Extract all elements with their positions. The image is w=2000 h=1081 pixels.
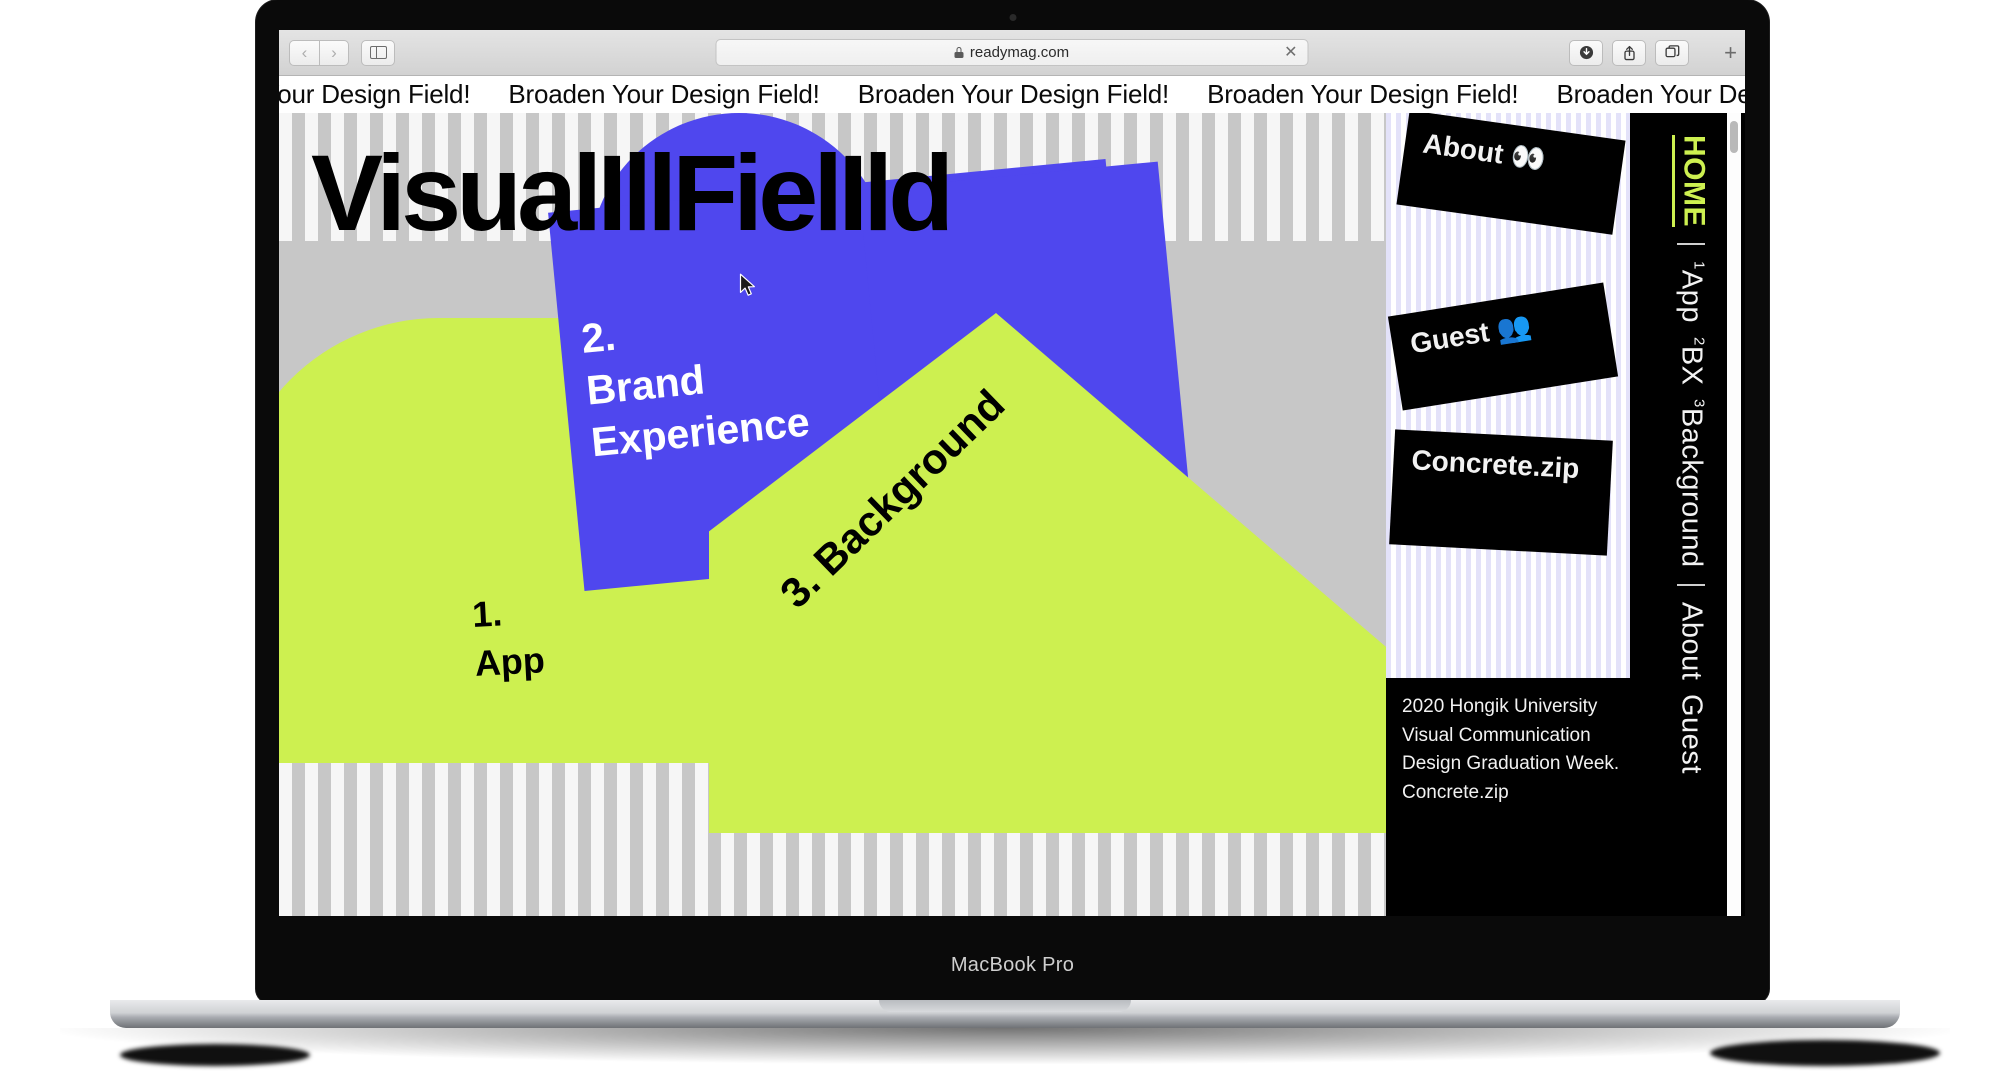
nav-item-bx[interactable]: 2BX (1675, 337, 1708, 386)
address-bar[interactable]: readymag.com ✕ (716, 39, 1309, 66)
section-label-app[interactable]: 1. App (471, 587, 546, 688)
base-notch (879, 1000, 1131, 1012)
marquee-text: Broaden Your Design Field! (1556, 79, 1745, 110)
mouse-cursor (739, 273, 757, 298)
nav-item-app-number: 1 (1691, 261, 1708, 270)
sidebar-icon (370, 46, 387, 59)
forward-button[interactable]: › (319, 40, 349, 66)
nav-item-background-number: 3 (1691, 399, 1708, 408)
browser-toolbar: ‹ › readymag.com ✕ (279, 30, 1745, 76)
nav-item-background-label: Background (1676, 408, 1708, 568)
laptop-body: MacBook Pro ‹ › readymag.com ✕ (256, 0, 1769, 1003)
nav-item-app[interactable]: 1App (1675, 261, 1708, 323)
panel-footer-text: 2020 Hongik University Visual Communicat… (1402, 693, 1632, 807)
vertical-nav: HOME 1App 2BX 3Background About Guest (1661, 113, 1721, 916)
downloads-button[interactable] (1569, 40, 1603, 66)
hero-canvas: VisualIllFielIld 2. Brand Experience 3. … (279, 113, 1386, 916)
scrollbar-thumb[interactable] (1730, 121, 1738, 153)
screenshot-stage: MacBook Pro ‹ › readymag.com ✕ (0, 0, 2000, 1081)
marquee-text: Broaden Your Design Field! (1207, 79, 1556, 110)
share-button[interactable] (1612, 40, 1646, 66)
webcam-icon (1009, 14, 1016, 21)
web-page: Broaden Your Design Field!Broaden Your D… (279, 76, 1745, 916)
nav-item-app-label: App (1676, 270, 1708, 323)
page-title: VisualIllFielIld (311, 139, 949, 247)
nav-item-background[interactable]: 3Background (1675, 399, 1708, 568)
laptop-shadow (60, 1028, 1950, 1064)
nav-item-bx-label: BX (1676, 346, 1708, 386)
marquee-text: Broaden Your Design Field! (858, 79, 1207, 110)
new-tab-button[interactable]: + (1724, 42, 1737, 64)
nav-section-secondary: About Guest (1675, 602, 1708, 774)
nav-item-bx-number: 2 (1691, 337, 1708, 346)
lock-icon (955, 47, 964, 58)
marquee-banner: Broaden Your Design Field!Broaden Your D… (279, 76, 1745, 113)
marquee-track: Broaden Your Design Field!Broaden Your D… (279, 79, 1745, 110)
laptop-screen: ‹ › readymag.com ✕ (279, 30, 1745, 916)
tab-overview-button[interactable] (1655, 40, 1689, 66)
sidebar-toggle-button[interactable] (361, 40, 395, 66)
nav-item-about[interactable]: About (1675, 602, 1708, 680)
toolbar-actions (1569, 40, 1689, 66)
nav-item-guest[interactable]: Guest (1675, 694, 1708, 774)
nav-section-primary: 1App 2BX 3Background (1675, 261, 1708, 568)
section-label-brand-experience[interactable]: 2. Brand Experience (579, 292, 812, 468)
page-scrollbar[interactable] (1727, 113, 1741, 916)
stop-reload-icon[interactable]: ✕ (1284, 45, 1297, 61)
nav-divider-2 (1677, 584, 1705, 586)
card-concrete-zip[interactable]: Concrete.zip (1389, 429, 1613, 555)
laptop-base (110, 1000, 1900, 1028)
url-text: readymag.com (970, 44, 1069, 61)
marquee-text: Broaden Your Design Field! (508, 79, 857, 110)
device-model-label: MacBook Pro (256, 954, 1769, 977)
nav-item-home[interactable]: HOME (1672, 135, 1711, 227)
back-button[interactable]: ‹ (289, 40, 319, 66)
marquee-text: Broaden Your Design Field! (279, 79, 508, 110)
nav-divider (1677, 243, 1705, 245)
right-panel: About 👀 Guest 👥 Concrete.zip 2020 Hongik… (1386, 113, 1745, 916)
